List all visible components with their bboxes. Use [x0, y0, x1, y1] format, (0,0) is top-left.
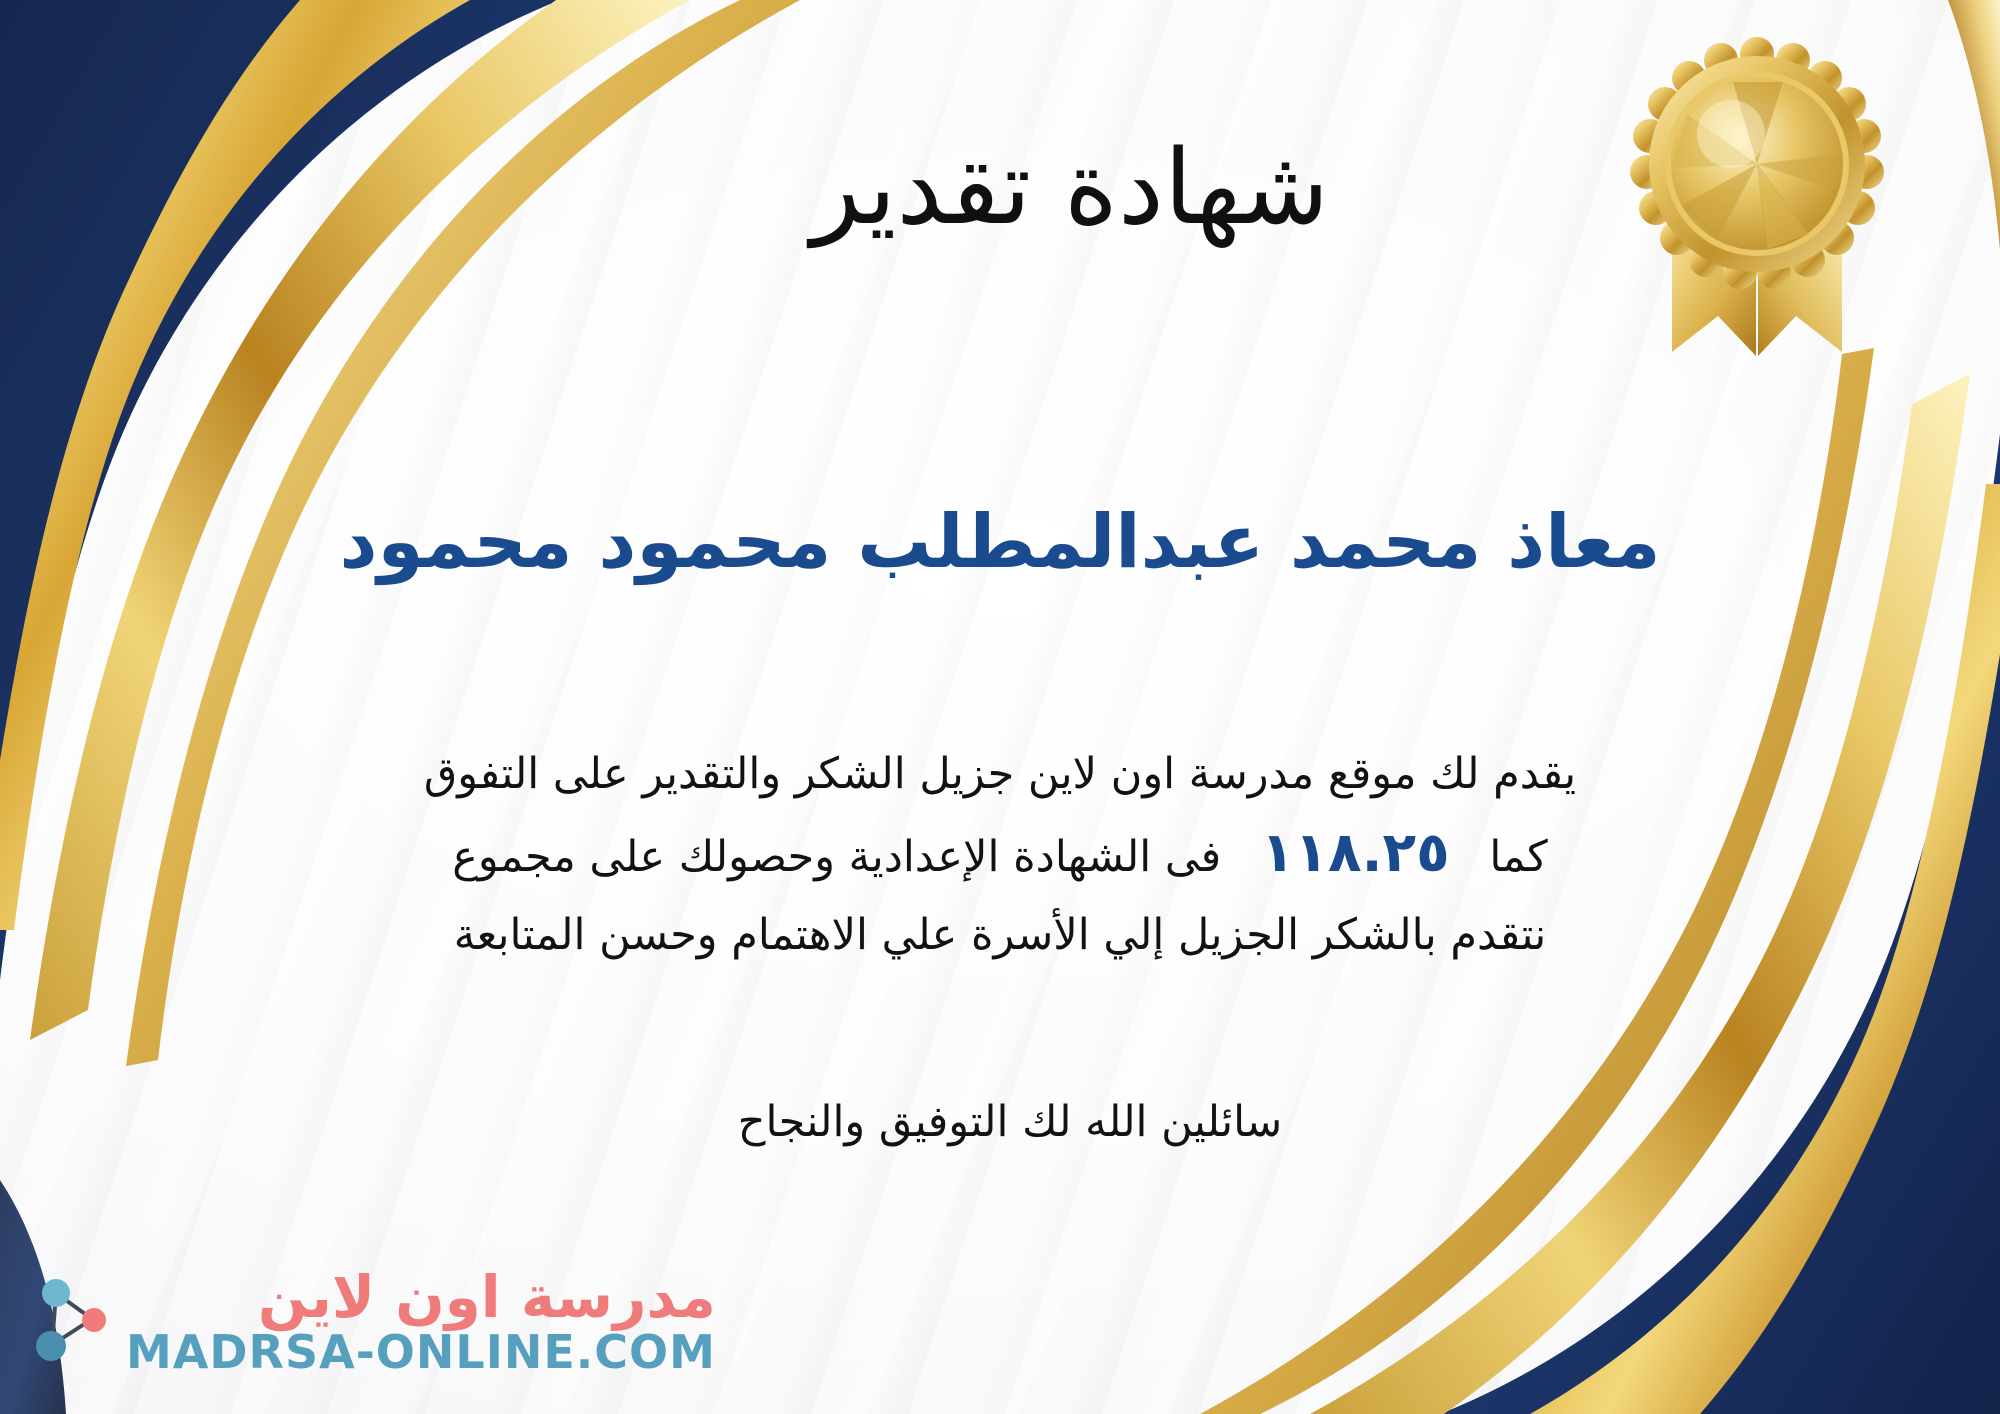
closing-line: سائلين الله لك التوفيق والنجاح: [0, 1095, 2000, 1151]
body-line-2-suffix: كما: [1489, 832, 1547, 882]
recipient-name: معاذ محمد عبدالمطلب محمود محمود: [0, 500, 2000, 585]
brand-text: مدرسة اون لاين MADRSA-ONLINE.COM: [126, 1267, 716, 1376]
brand-name-arabic: مدرسة اون لاين: [126, 1267, 716, 1328]
body-line-1: يقدم لك موقع مدرسة اون لاين جزيل الشكر و…: [175, 735, 1825, 813]
brand-domain: MADRSA-ONLINE.COM: [126, 1328, 716, 1376]
body-line-3: نتقدم بالشكر الجزيل إلي الأسرة علي الاهت…: [175, 896, 1825, 974]
body-line-2-prefix: فى الشهادة الإعدادية وحصولك على مجموع: [452, 832, 1221, 882]
total-score-value: ١١٨.٢٥: [1235, 820, 1476, 884]
certificate-body: يقدم لك موقع مدرسة اون لاين جزيل الشكر و…: [0, 735, 2000, 974]
body-line-2: كما ١١٨.٢٥ فى الشهادة الإعدادية وحصولك ع…: [175, 813, 1825, 896]
certificate-title: شهادة تقدير: [0, 132, 2000, 245]
certificate-page: شهادة تقدير معاذ محمد عبدالمطلب محمود مح…: [0, 0, 2000, 1414]
network-nodes-icon: [30, 1275, 116, 1367]
brand-logo[interactable]: مدرسة اون لاين MADRSA-ONLINE.COM: [30, 1267, 716, 1376]
